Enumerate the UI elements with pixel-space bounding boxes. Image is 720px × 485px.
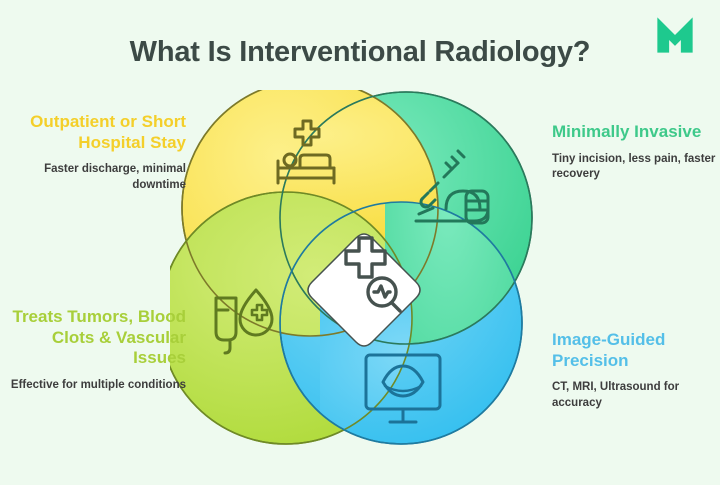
feature-heading-outpatient: Outpatient or Short Hospital Stay	[8, 112, 186, 153]
feature-block-treats-tumors: Treats Tumors, Blood Clots & Vascular Is…	[8, 307, 186, 394]
feature-block-minimally-invasive: Minimally Invasive Tiny incision, less p…	[552, 122, 720, 183]
page-title: What Is Interventional Radiology?	[0, 36, 720, 69]
feature-heading-minimally-invasive: Minimally Invasive	[552, 122, 720, 143]
interlocking-circles-diagram	[170, 90, 550, 475]
feature-sub-minimally-invasive: Tiny incision, less pain, faster recover…	[552, 152, 720, 183]
feature-sub-treats-tumors: Effective for multiple conditions	[8, 378, 186, 393]
feature-sub-image-guided: CT, MRI, Ultrasound for accuracy	[552, 380, 720, 411]
feature-block-outpatient: Outpatient or Short Hospital Stay Faster…	[8, 112, 186, 193]
feature-heading-treats-tumors: Treats Tumors, Blood Clots & Vascular Is…	[8, 307, 186, 369]
feature-sub-outpatient: Faster discharge, minimal downtime	[8, 162, 186, 193]
feature-block-image-guided: Image-Guided Precision CT, MRI, Ultrasou…	[552, 330, 720, 411]
infographic-page: What Is Interventional Radiology?	[0, 0, 720, 485]
feature-heading-image-guided: Image-Guided Precision	[552, 330, 720, 371]
